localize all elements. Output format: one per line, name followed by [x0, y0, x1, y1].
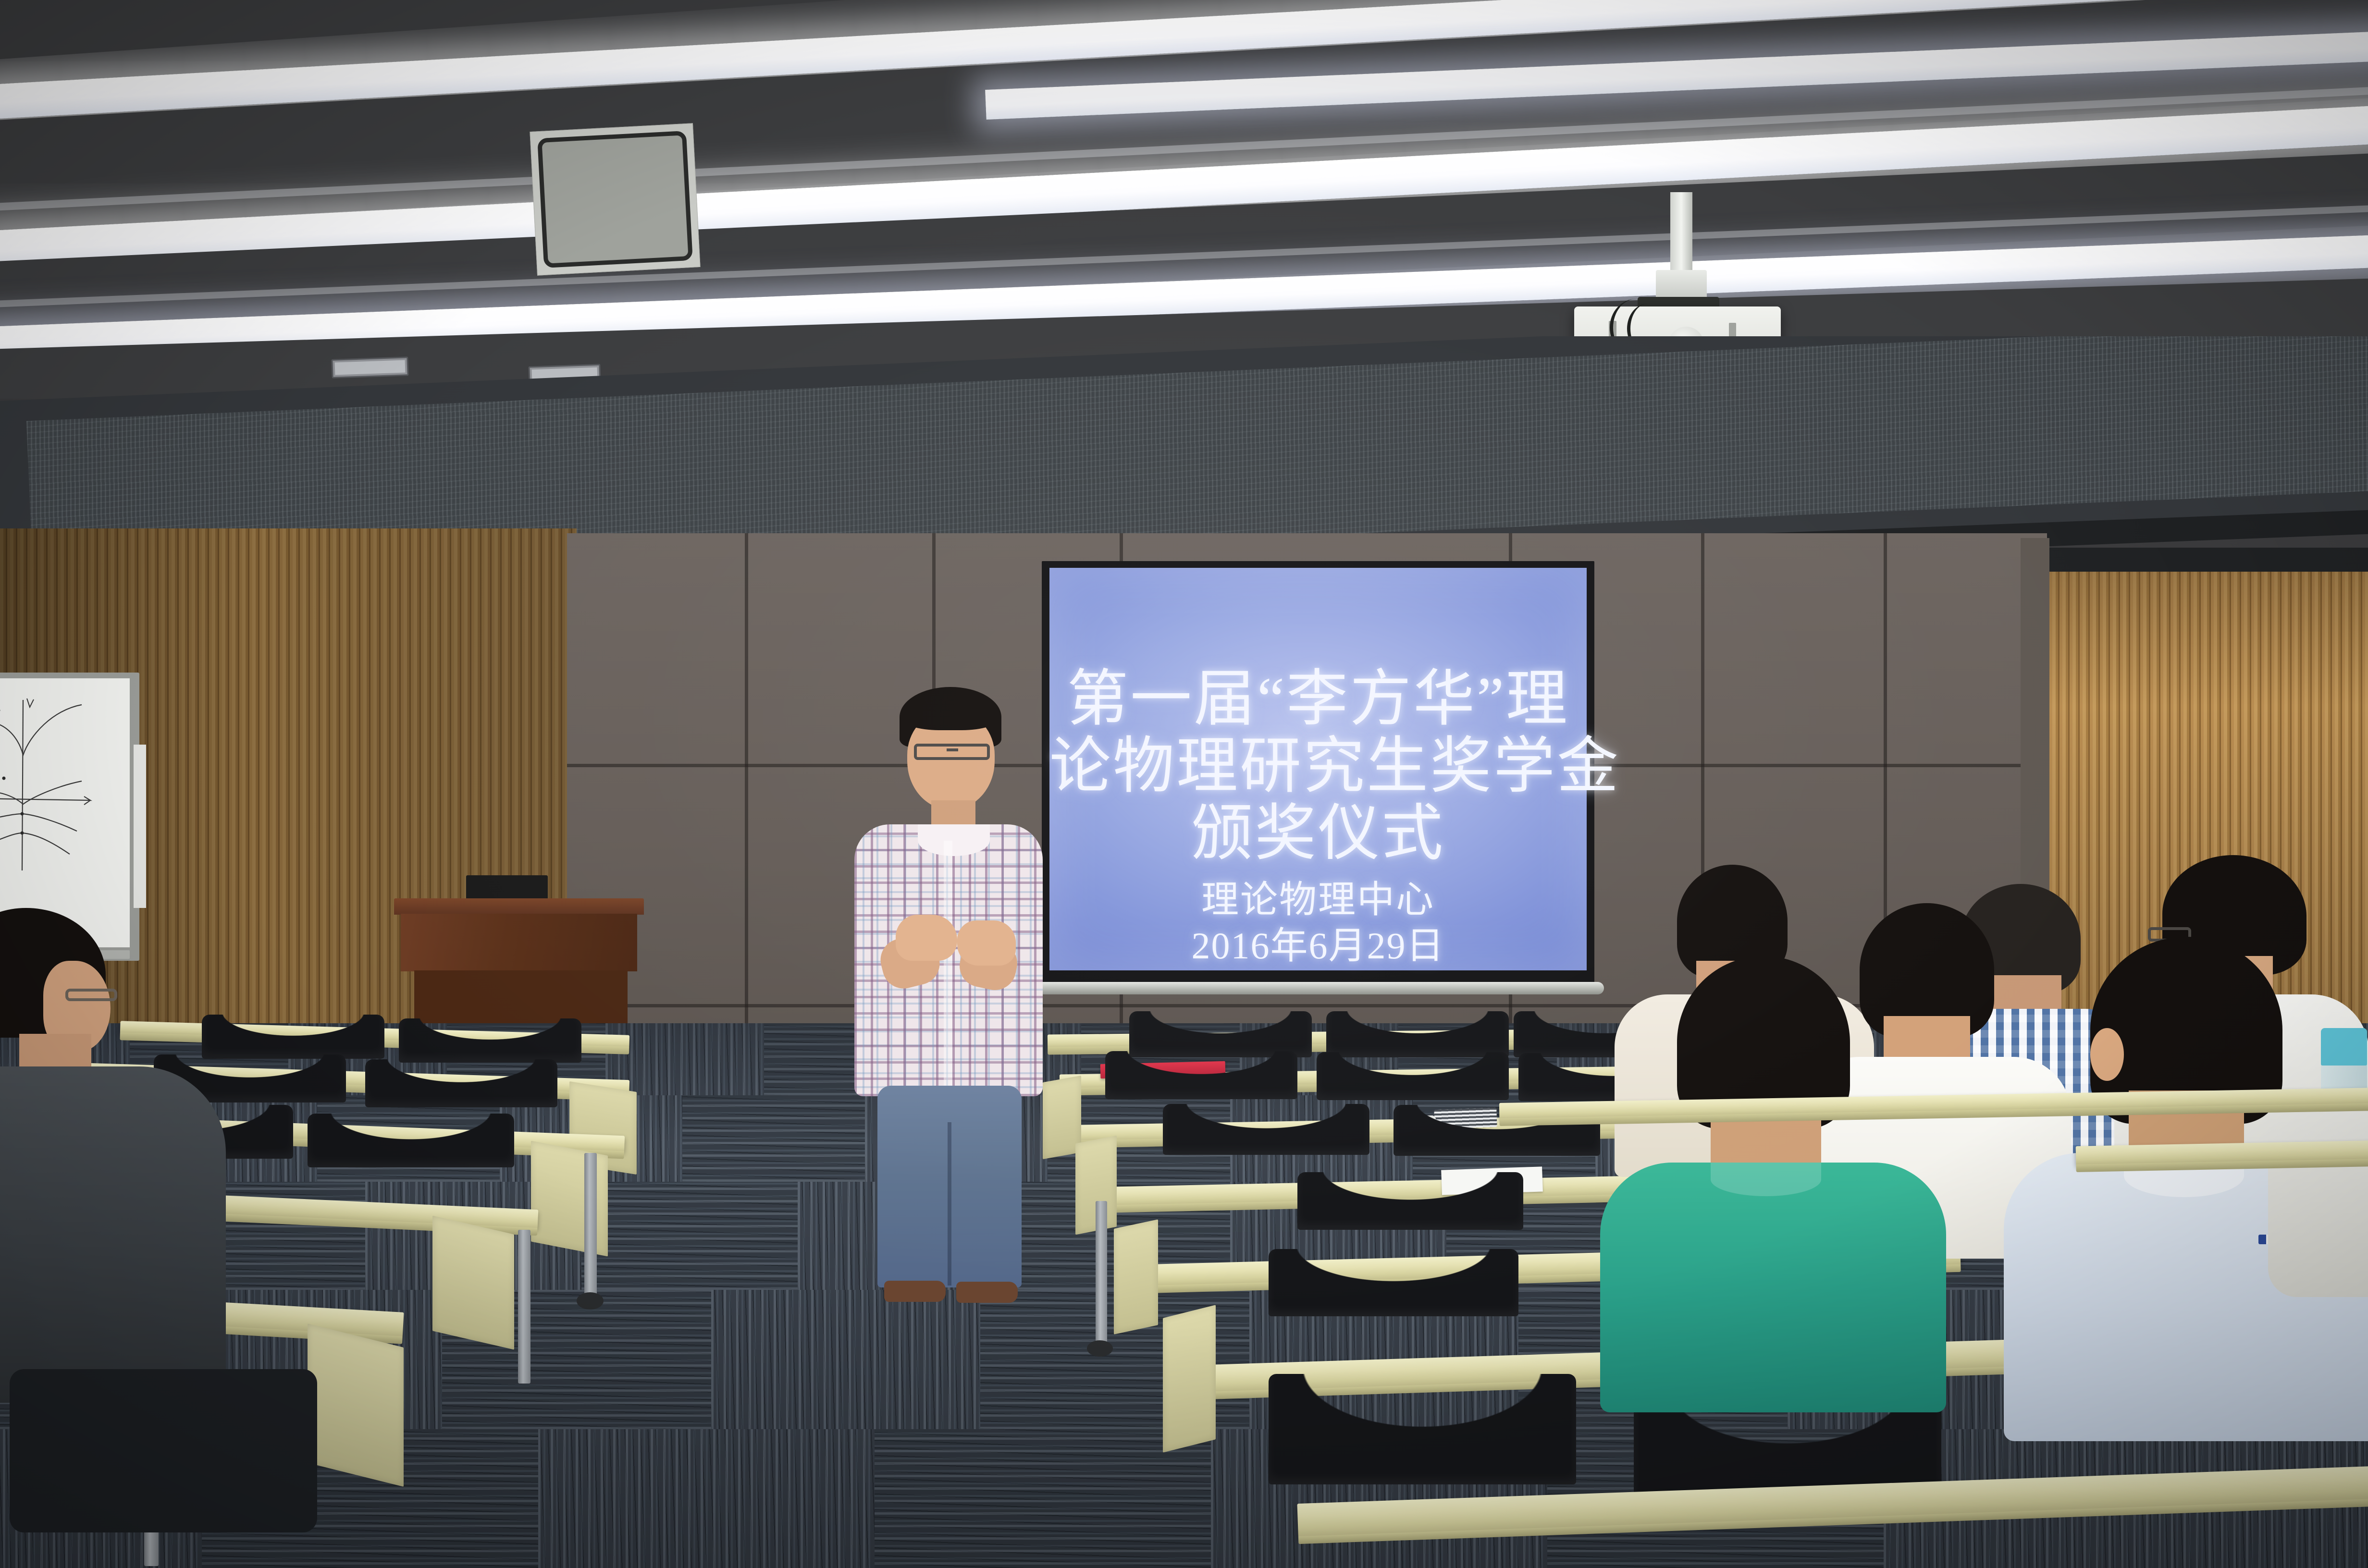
chair[interactable] — [1269, 1374, 1576, 1484]
tshirt-collar — [1711, 1163, 1821, 1196]
torso-dark-grey-tshirt — [0, 1066, 226, 1403]
shirt-placket — [944, 841, 952, 1090]
sandal — [884, 1281, 946, 1302]
svg-text:aAs: aAs — [0, 702, 0, 715]
desk-modesty-panel — [1163, 1305, 1216, 1452]
audience-member-shoulder — [2268, 1095, 2368, 1297]
lectern-body — [401, 914, 637, 971]
jeans-seam — [948, 1122, 951, 1286]
chair[interactable] — [1326, 1011, 1509, 1057]
desk-caster — [1087, 1340, 1113, 1357]
desk-caster — [577, 1292, 604, 1310]
ceiling-ac-vent — [530, 123, 700, 275]
hair-fringe — [902, 699, 999, 730]
eyeglasses-bridge — [947, 748, 958, 751]
right-wall-top-trim — [2037, 548, 2368, 572]
desk-leg — [518, 1230, 530, 1384]
chair[interactable] — [308, 1114, 514, 1167]
bottle-cap[interactable] — [2321, 1028, 2367, 1066]
lecture-hall-photo: aAs a 第一届“李方华”理 论物理研究生奖学金 颁奖仪式 理论物理中心 20… — [0, 0, 2368, 1568]
desk-modesty-panel — [1114, 1219, 1158, 1335]
chair[interactable] — [1105, 1051, 1297, 1099]
slide-title-line-3: 颁奖仪式 — [1049, 783, 1587, 872]
shirt-collar — [918, 824, 990, 856]
trousers — [10, 1369, 317, 1532]
projection-screen[interactable]: 第一届“李方华”理 论物理研究生奖学金 颁奖仪式 理论物理中心 2016年6月2… — [1042, 561, 1594, 989]
speaker — [846, 687, 1048, 1225]
chair[interactable] — [202, 1015, 384, 1059]
chair[interactable] — [365, 1059, 557, 1107]
chair[interactable] — [1317, 1052, 1509, 1100]
slide-date: 2016年6月29日 — [1049, 916, 1587, 969]
teal-tshirt — [1600, 1163, 1946, 1412]
hand-left — [896, 915, 957, 961]
chair[interactable] — [1297, 1172, 1523, 1230]
desk-modesty-panel — [308, 1323, 404, 1487]
hand-right — [957, 920, 1016, 966]
whiteboard-surface: aAs a — [0, 678, 130, 947]
desk-leg — [1096, 1201, 1107, 1345]
chair[interactable] — [1163, 1104, 1369, 1155]
chair[interactable] — [399, 1018, 581, 1063]
whiteboard-side-panel — [134, 745, 146, 908]
chair[interactable] — [1129, 1011, 1312, 1057]
ear — [2090, 1028, 2124, 1081]
chair[interactable] — [1269, 1249, 1518, 1316]
lectern-top — [394, 898, 644, 915]
whiteboard-drawing: aAs a — [0, 678, 130, 947]
audience-member — [0, 908, 216, 1523]
eyeglasses-icon — [914, 744, 990, 760]
audience-member — [1615, 956, 1932, 1388]
projection-screen-surface: 第一届“李方华”理 论物理研究生奖学金 颁奖仪式 理论物理中心 2016年6月2… — [1049, 568, 1587, 970]
sandal — [956, 1282, 1018, 1303]
screen-weight-bar — [1023, 982, 1604, 994]
desk-modesty-panel — [432, 1215, 514, 1349]
eyeglasses-icon — [65, 989, 117, 1001]
projector-pole-mount — [1670, 192, 1692, 274]
desk-leg — [584, 1153, 597, 1297]
